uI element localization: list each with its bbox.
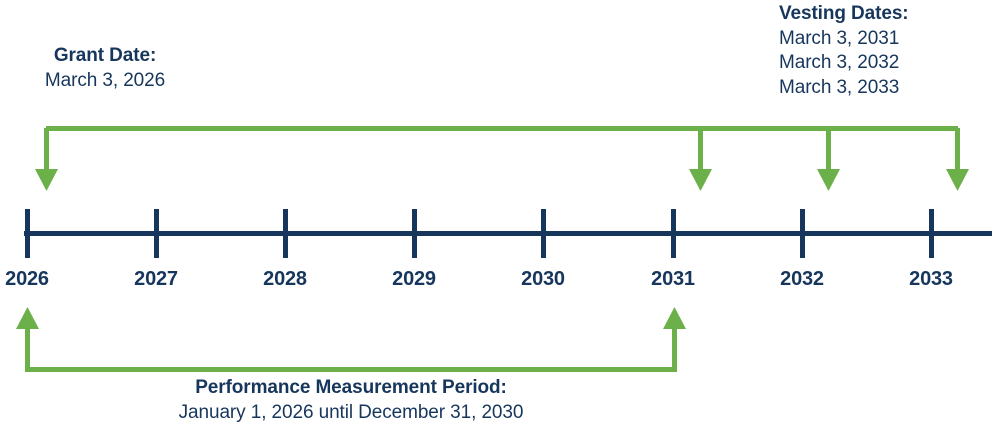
top-green-bracket xyxy=(35,128,969,191)
grant-date-value: March 3, 2026 xyxy=(0,69,210,94)
vesting-arrow-2-head xyxy=(817,169,840,191)
performance-end-arrow xyxy=(663,307,686,370)
performance-period-range: January 1, 2026 until December 31, 2030 xyxy=(40,401,662,426)
vesting-dates-title: Vesting Dates: xyxy=(779,2,909,27)
year-label-2033: 2033 xyxy=(871,268,991,291)
vesting-arrow-3-head xyxy=(946,169,969,191)
performance-start-arrow-head xyxy=(16,307,39,329)
vesting-date-3: March 3, 2033 xyxy=(779,76,909,101)
grant-arrow-head xyxy=(35,169,58,191)
year-label-2027: 2027 xyxy=(96,268,216,291)
vesting-arrow-1-head xyxy=(689,169,712,191)
grant-date-arrow xyxy=(35,128,58,191)
year-label-2026: 2026 xyxy=(0,268,87,291)
timeline-diagram: Grant Date: March 3, 2026 Vesting Dates:… xyxy=(0,0,992,433)
vesting-arrow-2031 xyxy=(689,128,712,191)
year-label-2031: 2031 xyxy=(613,268,733,291)
performance-end-arrow-head xyxy=(663,307,686,329)
timeline-axis xyxy=(24,209,992,258)
vesting-dates-label: Vesting Dates: March 3, 2031 March 3, 20… xyxy=(779,2,909,101)
year-label-2028: 2028 xyxy=(225,268,345,291)
vesting-arrow-2032 xyxy=(817,128,840,191)
performance-period-label: Performance Measurement Period: January … xyxy=(40,376,662,425)
year-label-2029: 2029 xyxy=(354,268,474,291)
grant-date-title: Grant Date: xyxy=(0,44,210,69)
vesting-date-1: March 3, 2031 xyxy=(779,27,909,52)
performance-start-arrow xyxy=(16,307,39,370)
bottom-green-bracket xyxy=(16,307,686,370)
year-label-2030: 2030 xyxy=(483,268,603,291)
performance-period-title: Performance Measurement Period: xyxy=(40,376,662,401)
year-label-2032: 2032 xyxy=(742,268,862,291)
grant-date-label: Grant Date: March 3, 2026 xyxy=(0,44,210,93)
vesting-date-2: March 3, 2032 xyxy=(779,51,909,76)
vesting-arrow-2033 xyxy=(946,128,969,191)
